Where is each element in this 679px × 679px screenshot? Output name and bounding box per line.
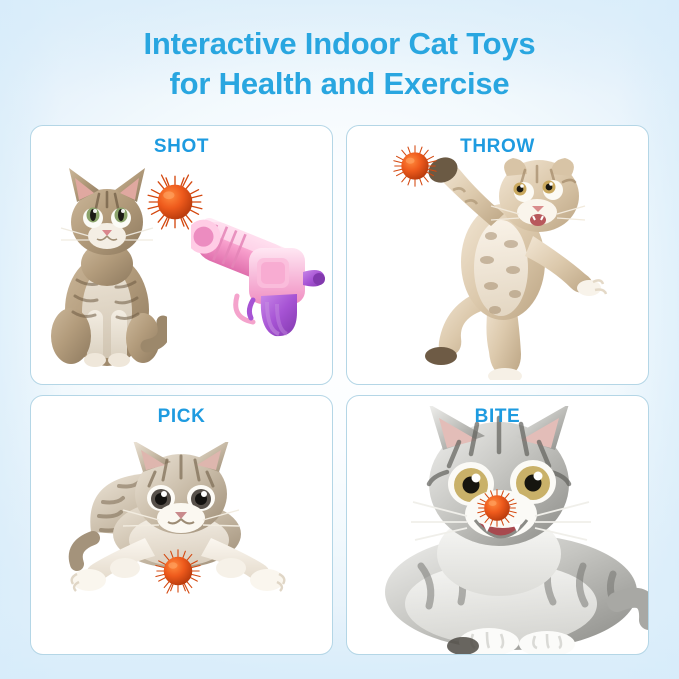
feature-card-pick-label: PICK xyxy=(31,406,332,428)
poster: Interactive Indoor Cat Toys for Health a… xyxy=(0,0,679,679)
feature-card-bite[interactable]: BITE Silver tabby cat lying down holding… xyxy=(346,395,649,655)
toy-launcher-gun-illustration xyxy=(191,200,333,340)
page-title-line-1: Interactive Indoor Cat Toys xyxy=(0,24,679,64)
orange-spiky-ball xyxy=(155,548,201,594)
feature-card-bite-label: BITE xyxy=(347,406,648,428)
feature-card-bite-scene xyxy=(347,396,648,654)
feature-card-throw[interactable]: THROW Striped cat standing on hind legs … xyxy=(346,125,649,385)
page-title-line-2: for Health and Exercise xyxy=(0,64,679,104)
feature-card-pick-scene xyxy=(31,396,332,654)
feature-card-throw-scene xyxy=(347,126,648,384)
feature-card-throw-label: THROW xyxy=(347,136,648,158)
feature-card-shot-label: SHOT xyxy=(31,136,332,158)
orange-spiky-ball xyxy=(477,488,517,528)
silver-tabby-cat-illustration xyxy=(351,406,649,655)
feature-card-shot-scene xyxy=(31,126,332,384)
feature-card-pick[interactable]: PICK Kitten crouched low with paws stret… xyxy=(30,395,333,655)
page-title: Interactive Indoor Cat Toys for Health a… xyxy=(0,24,679,103)
feature-card-grid: SHOT Tabby kitten sitting and looking up… xyxy=(30,125,649,655)
feature-card-shot[interactable]: SHOT Tabby kitten sitting and looking up… xyxy=(30,125,333,385)
